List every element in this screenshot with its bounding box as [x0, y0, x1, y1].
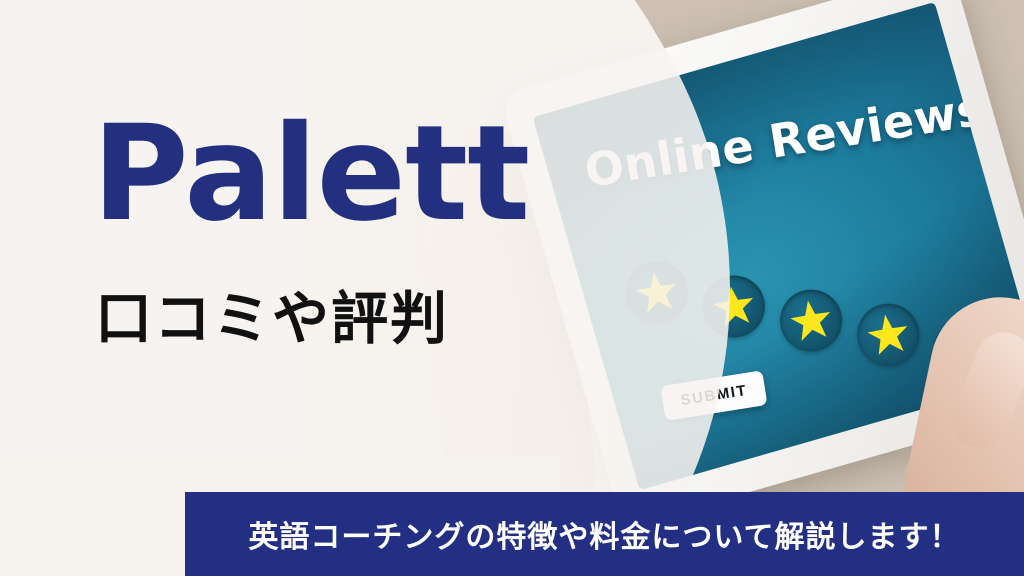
star-glyph-4 [864, 311, 912, 359]
page-subtitle: 口コミや評判 [95, 291, 449, 348]
star-glyph-3 [787, 297, 835, 345]
star-glyph-2 [710, 282, 758, 330]
page-title: Palett [92, 108, 529, 240]
hero-banner-image: Online Reviews SUBMIT Palett 口コミや評判 英語コー… [0, 0, 1024, 576]
star-glyph-1 [633, 268, 681, 316]
bottom-banner-text: 英語コーチングの特徴や料金について解説します！ [248, 512, 960, 556]
bottom-banner: 英語コーチングの特徴や料金について解説します！ [185, 492, 1024, 576]
